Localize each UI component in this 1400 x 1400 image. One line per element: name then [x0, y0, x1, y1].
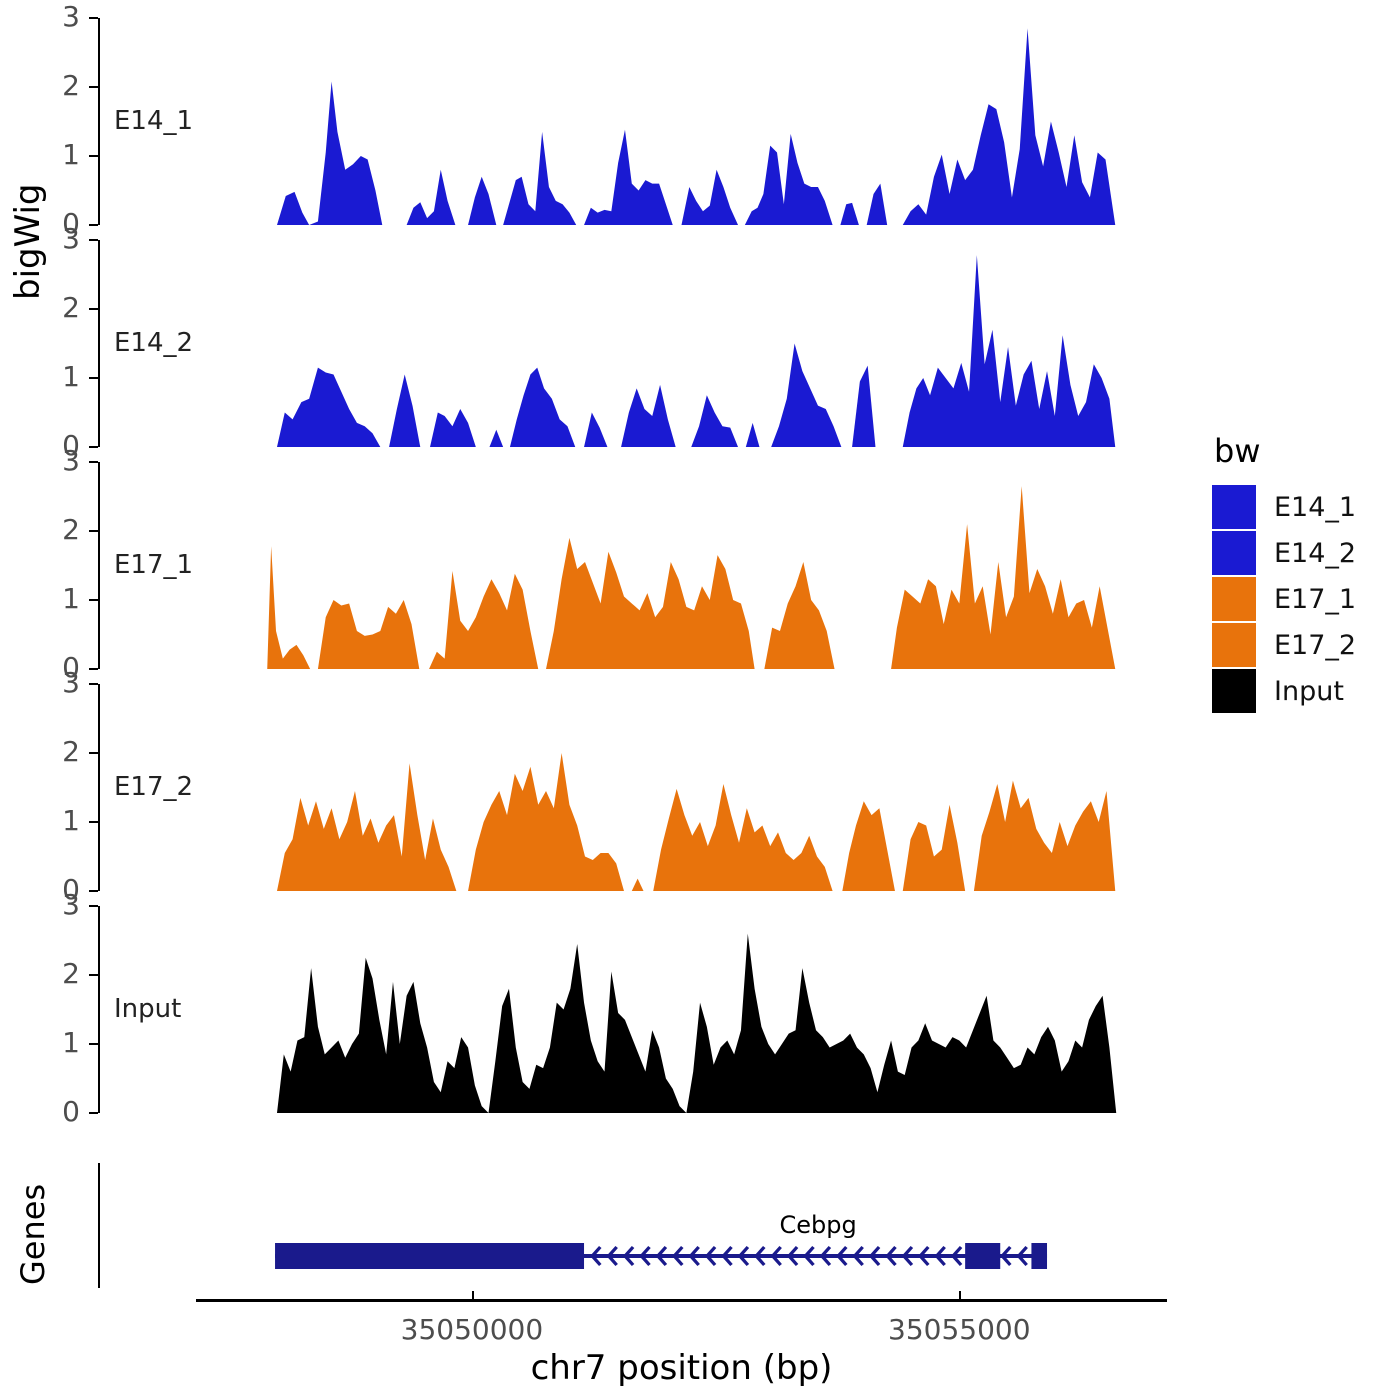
y-tick	[89, 599, 98, 601]
y-tick-label: 3	[20, 444, 80, 477]
y-tick	[89, 905, 98, 907]
y-tick-label: 2	[20, 513, 80, 546]
panel-label-e17_2: E17_2	[114, 772, 193, 802]
signal-segment	[277, 934, 1116, 1113]
x-tick	[472, 1291, 474, 1302]
signal-segment	[389, 375, 420, 447]
y-tick	[89, 821, 98, 823]
signal-segment	[468, 177, 496, 225]
signal-segment	[503, 132, 576, 225]
y-tick-label: 3	[20, 0, 80, 33]
track-panel-e14_1: 0123E14_1	[98, 18, 1145, 225]
x-tick-label: 35050000	[372, 1313, 572, 1346]
panel-label-e14_2: E14_2	[114, 328, 193, 358]
y-tick	[89, 239, 98, 241]
signal-segment	[546, 538, 755, 669]
signal-area-e17_2	[238, 684, 1129, 891]
legend-item-e14_1[interactable]: E14_1	[1212, 484, 1392, 530]
y-tick	[89, 530, 98, 532]
signal-segment	[489, 430, 503, 447]
signal-segment	[746, 423, 760, 447]
signal-segment	[682, 170, 739, 225]
signal-segment	[468, 753, 624, 891]
signal-segment	[903, 255, 1115, 447]
signal-segment	[842, 801, 895, 891]
y-axis-line	[98, 18, 100, 225]
y-axis-line	[98, 462, 100, 669]
legend-swatch	[1212, 485, 1256, 529]
signal-segment	[974, 781, 1115, 891]
signal-segment	[891, 486, 1115, 669]
signal-segment	[267, 546, 310, 669]
signal-segment	[277, 368, 380, 447]
y-tick	[89, 752, 98, 754]
y-tick	[89, 377, 98, 379]
exon-block	[1031, 1243, 1047, 1269]
y-tick-label: 2	[20, 735, 80, 768]
signal-segment	[584, 413, 607, 448]
y-tick-label: 2	[20, 291, 80, 324]
y-tick	[89, 683, 98, 685]
y-tick	[89, 224, 98, 226]
signal-segment	[277, 81, 382, 225]
y-tick-label: 3	[20, 222, 80, 255]
signal-segment	[429, 571, 538, 669]
y-axis-line	[98, 906, 100, 1113]
signal-segment	[903, 28, 1115, 225]
signal-segment	[764, 562, 834, 669]
signal-segment	[407, 170, 456, 225]
signal-segment	[632, 879, 644, 891]
y-tick	[89, 446, 98, 448]
y-tick	[89, 308, 98, 310]
legend-item-e17_1[interactable]: E17_1	[1212, 576, 1392, 622]
legend-swatch	[1212, 577, 1256, 621]
track-panel-input: 0123Input	[98, 906, 1145, 1113]
signal-segment	[867, 184, 887, 225]
signal-segment	[653, 784, 832, 891]
signal-segment	[584, 130, 673, 225]
legend-item-input[interactable]: Input	[1212, 668, 1392, 714]
signal-segment	[430, 409, 476, 447]
gene-model-svg[interactable]	[238, 1163, 1129, 1288]
y-tick	[89, 1043, 98, 1045]
legend-swatch	[1212, 531, 1256, 575]
gene-model[interactable]	[238, 1163, 1129, 1292]
y-tick	[89, 668, 98, 670]
signal-segment	[852, 366, 875, 447]
signal-segment	[277, 763, 456, 891]
y-axis-line	[98, 240, 100, 447]
y-tick-label: 2	[20, 957, 80, 990]
legend: bw E14_1E14_2E17_1E17_2Input	[1212, 432, 1392, 714]
y-tick	[89, 17, 98, 19]
y-tick	[89, 461, 98, 463]
x-axis-line	[196, 1299, 1167, 1302]
y-tick-label: 1	[20, 582, 80, 615]
legend-label: E17_1	[1274, 584, 1356, 615]
legend-label: E14_2	[1274, 538, 1356, 569]
track-panel-e14_2: 0123E14_2	[98, 240, 1145, 447]
legend-swatch	[1212, 669, 1256, 713]
legend-items: E14_1E14_2E17_1E17_2Input	[1212, 484, 1392, 714]
signal-segment	[771, 344, 841, 448]
legend-swatch	[1212, 623, 1256, 667]
y-tick	[89, 1112, 98, 1114]
y-tick-label: 1	[20, 138, 80, 171]
exon-block	[275, 1243, 584, 1269]
y-tick	[89, 86, 98, 88]
legend-item-e14_2[interactable]: E14_2	[1212, 530, 1392, 576]
signal-segment	[510, 368, 575, 447]
panel-label-e17_1: E17_1	[114, 550, 193, 580]
y-tick	[89, 155, 98, 157]
y-tick-label: 3	[20, 666, 80, 699]
signal-segment	[745, 134, 833, 225]
y-tick-label: 0	[20, 1095, 80, 1128]
signal-segment	[903, 805, 965, 891]
y-tick-label: 1	[20, 360, 80, 393]
x-tick	[959, 1291, 961, 1302]
signal-segment	[840, 203, 859, 225]
exon-block	[965, 1243, 1000, 1269]
signal-segment	[691, 395, 738, 447]
track-panel-e17_1: 0123E17_1	[98, 462, 1145, 669]
y-tick-label: 3	[20, 888, 80, 921]
y-tick-label: 2	[20, 69, 80, 102]
legend-title: bw	[1214, 432, 1392, 470]
y-tick-label: 1	[20, 1026, 80, 1059]
y-tick	[89, 890, 98, 892]
y-tick-label: 1	[20, 804, 80, 837]
legend-item-e17_2[interactable]: E17_2	[1212, 622, 1392, 668]
legend-label: Input	[1274, 676, 1344, 707]
genes-axis-line	[98, 1163, 100, 1288]
panel-label-input: Input	[114, 994, 181, 1024]
signal-segment	[318, 600, 419, 669]
signal-area-input	[238, 906, 1129, 1113]
y-axis-line	[98, 684, 100, 891]
x-axis-title: chr7 position (bp)	[38, 1348, 1325, 1388]
signal-area-e17_1	[238, 462, 1129, 669]
x-tick-label: 35055000	[859, 1313, 1059, 1346]
genes-axis-title: Genes	[14, 1184, 52, 1285]
legend-label: E14_1	[1274, 492, 1356, 523]
signal-segment	[621, 385, 676, 447]
signal-area-e14_1	[238, 18, 1129, 225]
signal-area-e14_2	[238, 240, 1129, 447]
legend-label: E17_2	[1274, 630, 1356, 661]
y-tick	[89, 974, 98, 976]
panel-label-e14_1: E14_1	[114, 106, 193, 136]
track-panel-e17_2: 0123E17_2	[98, 684, 1145, 891]
